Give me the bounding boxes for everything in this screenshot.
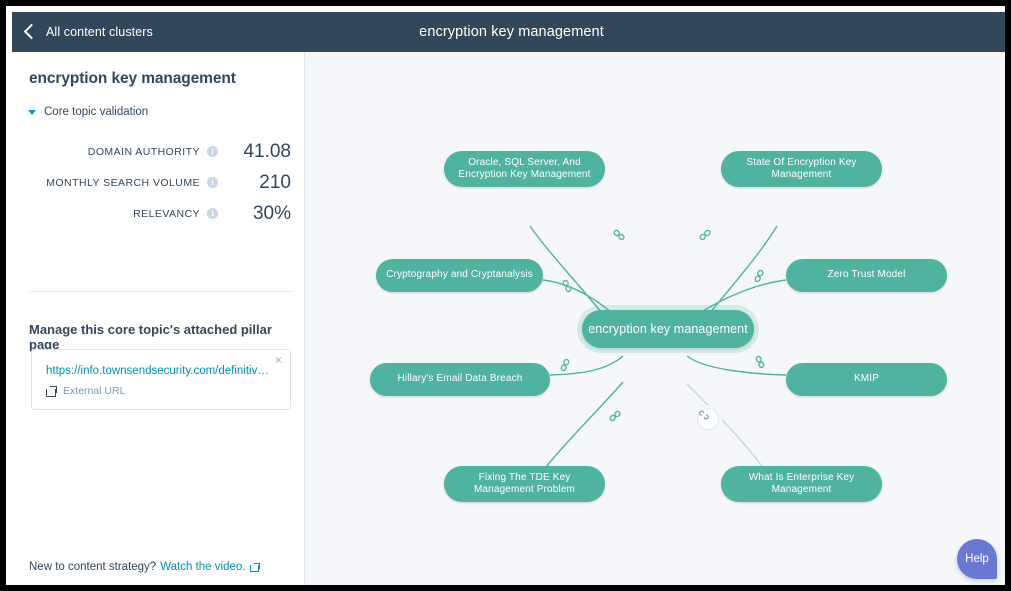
metric-label: RELEVANCY [133,208,200,220]
chain-link-icon-state-of-encryption[interactable] [698,228,714,244]
external-link-icon [46,386,57,397]
chain-link-icon-oracle-sql-server[interactable] [612,228,628,244]
cluster-canvas[interactable]: Oracle, SQL Server, And Encryption Key M… [305,52,1011,591]
sidebar: encryption key management Core topic val… [12,52,305,591]
pillar-page-meta-label: External URL [63,385,125,397]
chain-link-icon-zero-trust-model[interactable] [752,269,768,285]
cluster-node-hillary-email-breach[interactable]: Hillary's Email Data Breach [370,363,550,396]
metric-row-relevancy: RELEVANCY i 30% [29,198,291,229]
app-inner: All content clusters encryption key mana… [12,12,1011,591]
cluster-node-label: State Of Encryption Key Management [746,157,856,182]
pillar-page-card: × https://info.townsendsecurity.com/defi… [31,349,291,410]
info-icon[interactable]: i [207,177,218,188]
external-link-icon [250,562,260,572]
metric-value: 41.08 [225,141,291,163]
cluster-node-label: Zero Trust Model [828,269,906,282]
core-topic-node[interactable]: encryption key management [582,310,754,348]
page-title: encryption key management [12,12,1011,52]
help-button[interactable]: Help [957,539,997,579]
cluster-node-fixing-tde-key[interactable]: Fixing The TDE Key Management Problem [444,466,605,502]
chain-link-icon-kmip[interactable] [753,355,769,371]
cluster-node-label: Hillary's Email Data Breach [398,373,523,386]
broken-link-icon-what-is-enterprise[interactable] [697,408,719,430]
watch-the-video-link[interactable]: Watch the video. [160,561,245,573]
cluster-node-cryptography[interactable]: Cryptography and Cryptanalysis [376,259,543,292]
metric-value: 210 [225,172,291,194]
cluster-node-oracle-sql-server[interactable]: Oracle, SQL Server, And Encryption Key M… [444,151,605,187]
close-icon[interactable]: × [275,354,282,366]
cluster-node-zero-trust-model[interactable]: Zero Trust Model [786,259,947,292]
sidebar-footer: New to content strategy? Watch the video… [29,561,260,573]
cluster-node-kmip[interactable]: KMIP [786,363,947,396]
cluster-node-label: Oracle, SQL Server, And Encryption Key M… [458,157,590,182]
metric-label: MONTHLY SEARCH VOLUME [46,177,200,189]
cluster-node-label: Cryptography and Cryptanalysis [386,269,533,282]
chevron-down-icon [28,110,36,115]
metric-row-monthly-search-volume: MONTHLY SEARCH VOLUME i 210 [29,167,291,198]
info-icon[interactable]: i [207,146,218,157]
metrics-list: DOMAIN AUTHORITY i 41.08 MONTHLY SEARCH … [29,136,291,229]
pillar-page-heading: Manage this core topic's attached pillar… [29,322,304,352]
cluster-node-label: Fixing The TDE Key Management Problem [474,472,575,497]
core-topic-validation-label: Core topic validation [44,106,148,118]
metric-label: DOMAIN AUTHORITY [88,146,200,158]
metric-row-domain-authority: DOMAIN AUTHORITY i 41.08 [29,136,291,167]
sidebar-divider [29,291,292,292]
chain-link-icon-cryptography[interactable] [560,279,576,295]
connector-kmip [687,356,786,375]
cluster-node-state-of-encryption[interactable]: State Of Encryption Key Management [721,151,882,187]
info-icon[interactable]: i [207,208,218,219]
pillar-page-url-link[interactable]: https://info.townsendsecurity.com/defini… [46,365,270,377]
pillar-page-meta: External URL [46,385,125,397]
cluster-node-label: KMIP [854,373,879,386]
sidebar-footer-text: New to content strategy? [29,561,156,573]
chain-link-icon-fixing-tde-key[interactable] [608,409,624,425]
cluster-node-label: What Is Enterprise Key Management [749,472,855,497]
metric-value: 30% [225,203,291,225]
sidebar-topic-title: encryption key management [29,70,236,88]
core-topic-node-label: encryption key management [588,322,748,336]
top-bar: All content clusters encryption key mana… [12,12,1011,52]
chain-link-icon-hillary-email-breach[interactable] [558,358,574,374]
help-button-label: Help [965,553,989,565]
core-topic-validation-toggle[interactable]: Core topic validation [28,106,148,118]
app-window: All content clusters encryption key mana… [0,0,1011,591]
cluster-node-what-is-enterprise[interactable]: What Is Enterprise Key Management [721,466,882,502]
